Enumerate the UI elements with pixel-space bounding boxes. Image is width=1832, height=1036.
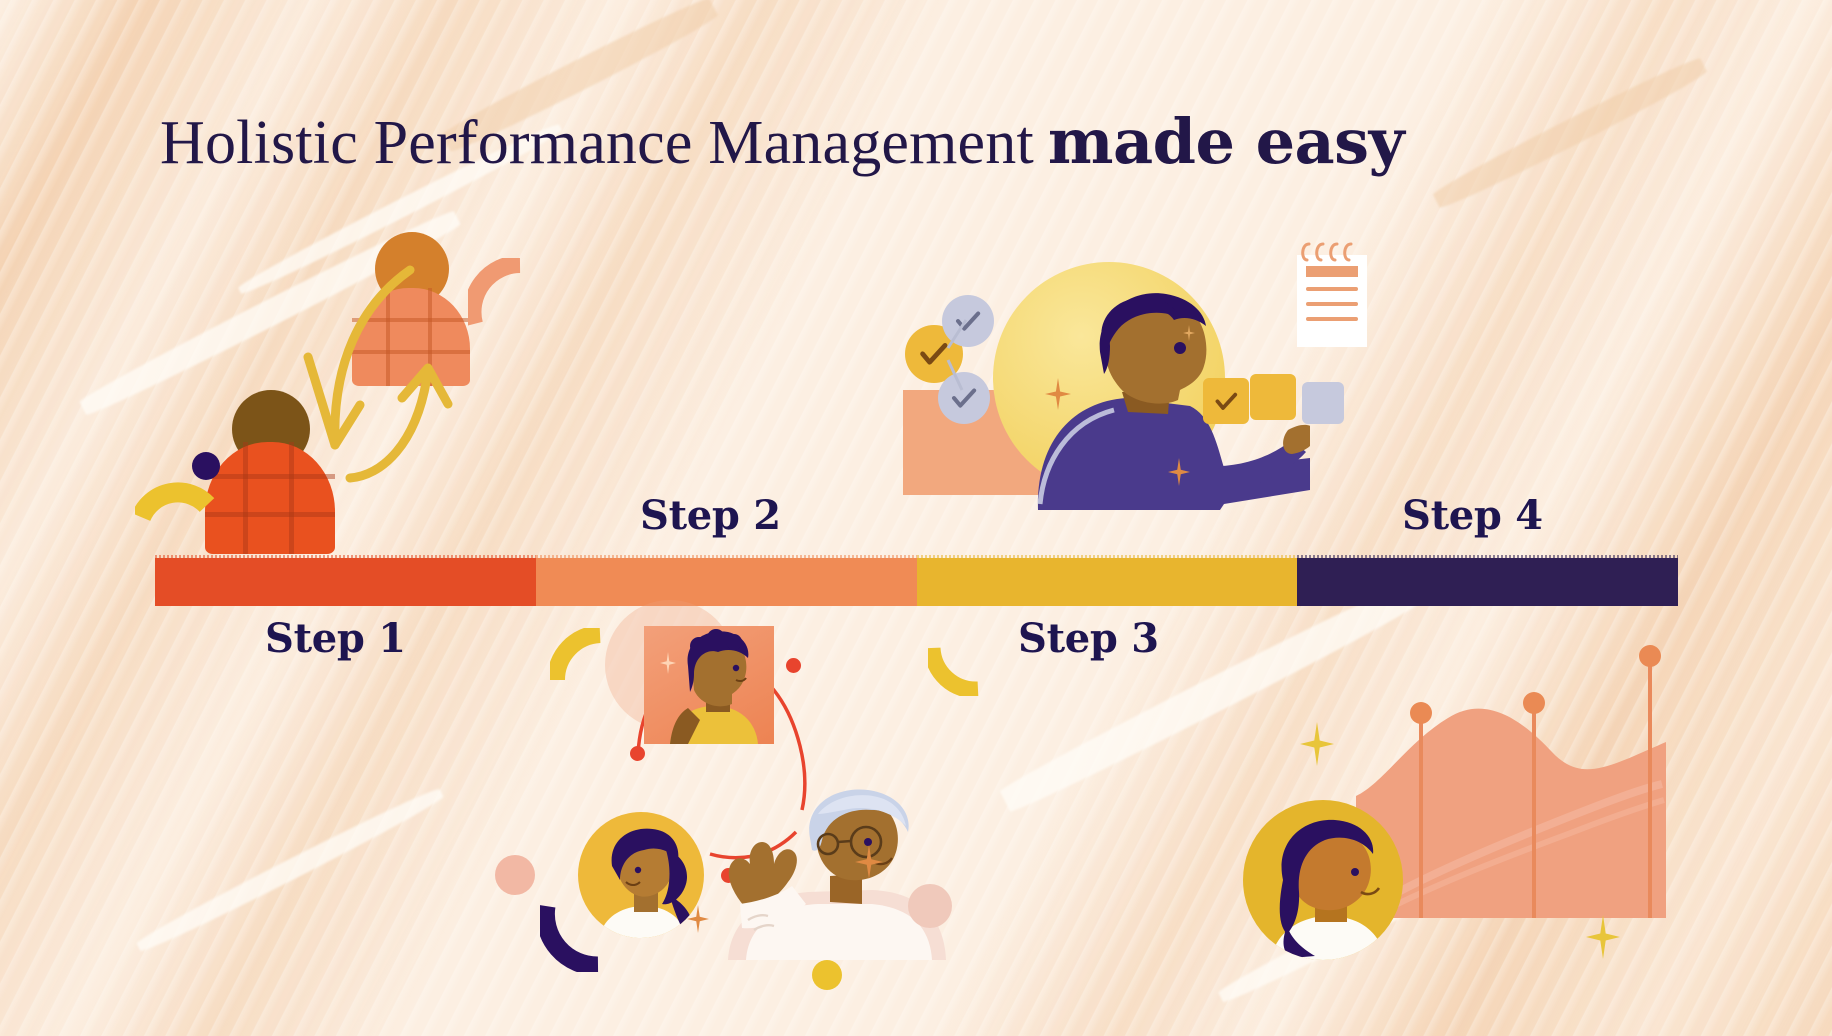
timeline-segment-step-2[interactable] xyxy=(536,558,917,606)
step-label-2: Step 2 xyxy=(640,492,781,539)
step3-notepad xyxy=(1297,255,1367,347)
step2-elder-portrait xyxy=(722,780,952,960)
step2-navy-arc xyxy=(540,900,606,972)
step3-check-connectors xyxy=(900,290,1020,435)
page-title-bold: made easy xyxy=(1048,105,1404,178)
page-title: Holistic Performance Managementmade easy xyxy=(160,105,1404,179)
timeline-bar xyxy=(155,558,1678,606)
step2-peach-dot xyxy=(495,855,535,895)
page-title-light: Holistic Performance Management xyxy=(160,109,1034,177)
step1-growth-arrow-secondary xyxy=(340,358,480,488)
step2-network-node xyxy=(786,658,801,673)
step-label-1: Step 1 xyxy=(265,615,406,662)
step3-task-tile-pending xyxy=(1302,382,1344,424)
step2-yellow-dot xyxy=(812,960,842,990)
step1-yellow-arc xyxy=(135,465,215,525)
timeline-segment-step-1[interactable] xyxy=(155,558,536,606)
infographic-canvas: Holistic Performance Managementmade easy xyxy=(0,0,1832,1036)
step4-chart-pin xyxy=(1419,722,1423,918)
step3-task-tile-done xyxy=(1203,378,1249,424)
step2-network-node xyxy=(630,746,645,761)
timeline-segment-step-4[interactable] xyxy=(1297,558,1678,606)
step3-notepad-spiral-icon xyxy=(1297,238,1367,262)
step2-card-portrait xyxy=(644,626,774,744)
step4-chart-pin xyxy=(1648,665,1652,918)
step-label-3: Step 3 xyxy=(1018,615,1159,662)
step1-peach-arc xyxy=(468,258,532,330)
step4-woman-portrait xyxy=(1243,800,1403,960)
step-label-4: Step 4 xyxy=(1402,492,1543,539)
step4-chart-pin xyxy=(1532,712,1536,918)
step3-task-tile-active xyxy=(1250,374,1296,420)
step2-yellow-arc-right xyxy=(928,640,984,696)
timeline-segment-step-3[interactable] xyxy=(917,558,1298,606)
step2-yellow-arc-left xyxy=(550,628,610,686)
